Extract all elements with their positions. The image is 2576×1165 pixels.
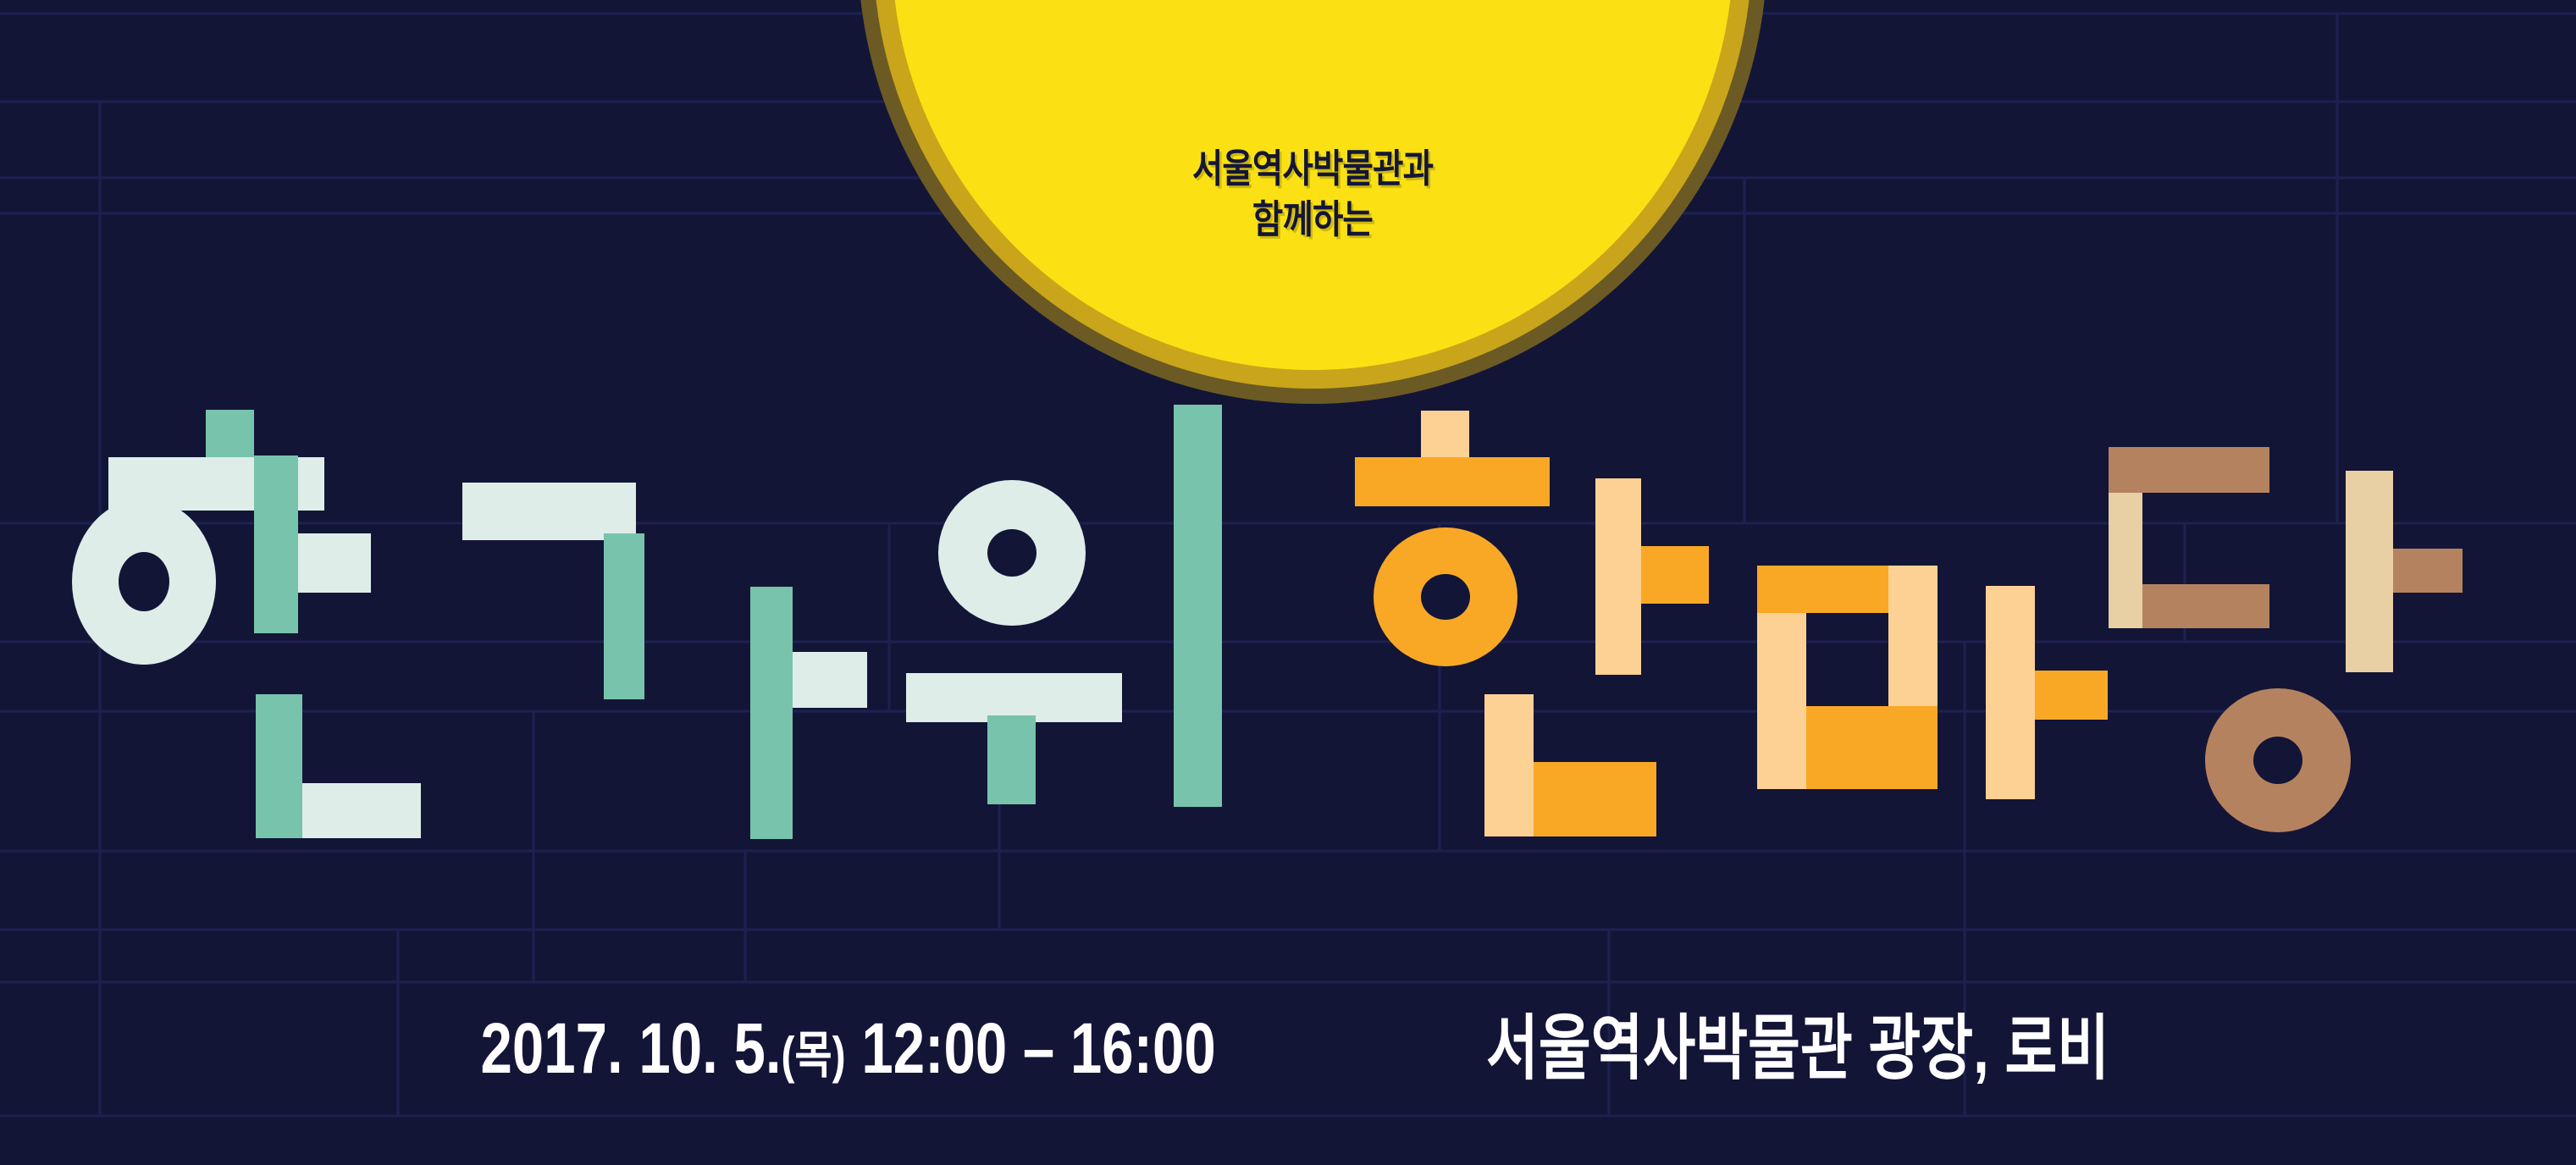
glyph-ga (462, 483, 867, 839)
glyph-dang (2109, 447, 2463, 832)
glyph-han-right (1355, 411, 1709, 836)
moon-caption-line-2: 함께하는 (934, 195, 1691, 246)
footer-info-row: 2017. 10. 5.(목) 12:00 – 16:00 서울역사박물관 광장… (0, 989, 2576, 1107)
event-date: 2017. 10. 5. (481, 1008, 782, 1088)
event-datetime: 2017. 10. 5.(목) 12:00 – 16:00 (481, 1013, 1216, 1084)
moon-caption-line-1: 서울역사박물관과 (934, 144, 1691, 195)
event-weekday: (목) (782, 1027, 846, 1084)
glyph-wi (906, 405, 1222, 807)
event-time: 12:00 – 16:00 (862, 1008, 1216, 1088)
moon-caption: 서울역사박물관과 함께하는 (934, 144, 1691, 246)
glyph-han-left (72, 410, 421, 838)
glyph-ma (1757, 566, 2108, 799)
event-venue: 서울역사박물관 광장, 로비 (1486, 1013, 2109, 1084)
poster-canvas: 서울역사박물관과 함께하는 2017. 10. 5.(목) 12:00 – 16… (0, 0, 2576, 1165)
